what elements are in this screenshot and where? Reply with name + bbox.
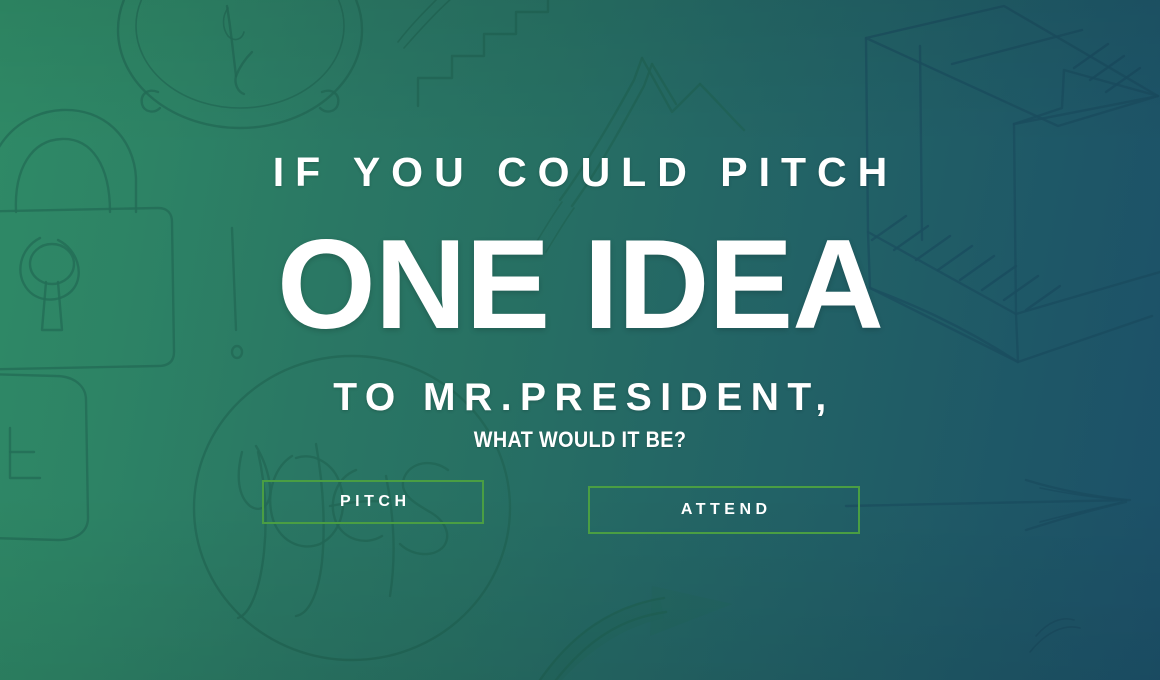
hero-headline: ONE IDEA bbox=[277, 221, 883, 348]
hero-subline: TO MR.PRESIDENT, bbox=[325, 378, 835, 417]
attend-button[interactable]: ATTEND bbox=[588, 486, 860, 534]
hero-eyebrow: IF YOU COULD PITCH bbox=[262, 152, 898, 193]
hero-content: IF YOU COULD PITCH ONE IDEA TO MR.PRESID… bbox=[0, 0, 1160, 680]
hero-kicker: WHAT WOULD IT BE? bbox=[474, 429, 687, 451]
hero-banner: IF YOU COULD PITCH ONE IDEA TO MR.PRESID… bbox=[0, 0, 1160, 680]
pitch-button[interactable]: PITCH bbox=[262, 480, 484, 524]
